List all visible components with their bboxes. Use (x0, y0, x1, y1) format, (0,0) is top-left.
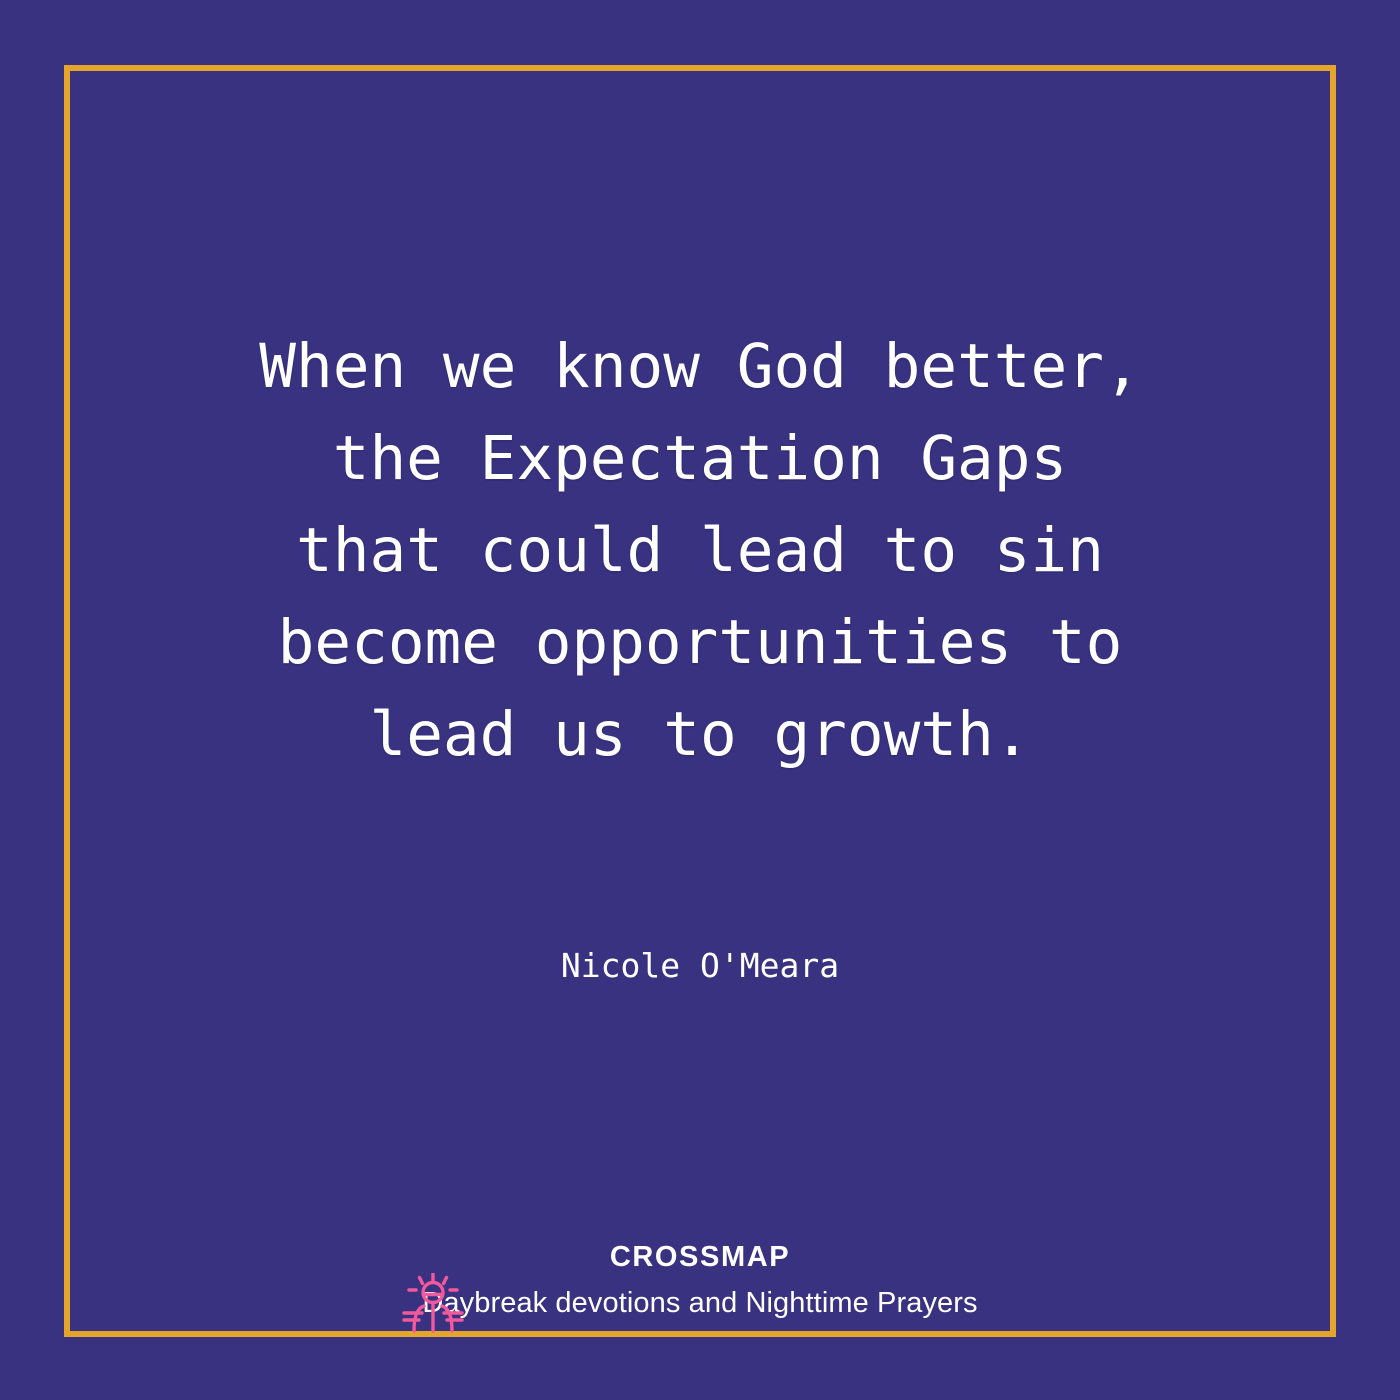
quote-line: When we know God better, (70, 321, 1330, 413)
quote-line: become opportunities to (70, 597, 1330, 689)
quote-card: When we know God better, the Expectation… (0, 0, 1400, 1400)
tagline-text: Daybreak devotions and Nighttime Prayers (422, 1286, 977, 1321)
card-footer: CROSSMAP (70, 1243, 1330, 1321)
quote-line: the Expectation Gaps (70, 413, 1330, 505)
sunrise-icon (400, 1273, 466, 1335)
quote-line: that could lead to sin (70, 505, 1330, 597)
tagline-row: Daybreak devotions and Nighttime Prayers (70, 1286, 1330, 1321)
brand-name: CROSSMAP (610, 1243, 790, 1272)
quote-line: lead us to growth. (70, 689, 1330, 781)
quote-author: Nicole O'Meara (70, 946, 1330, 985)
card-content: When we know God better, the Expectation… (70, 71, 1330, 1331)
quote-text: When we know God better, the Expectation… (70, 321, 1330, 781)
